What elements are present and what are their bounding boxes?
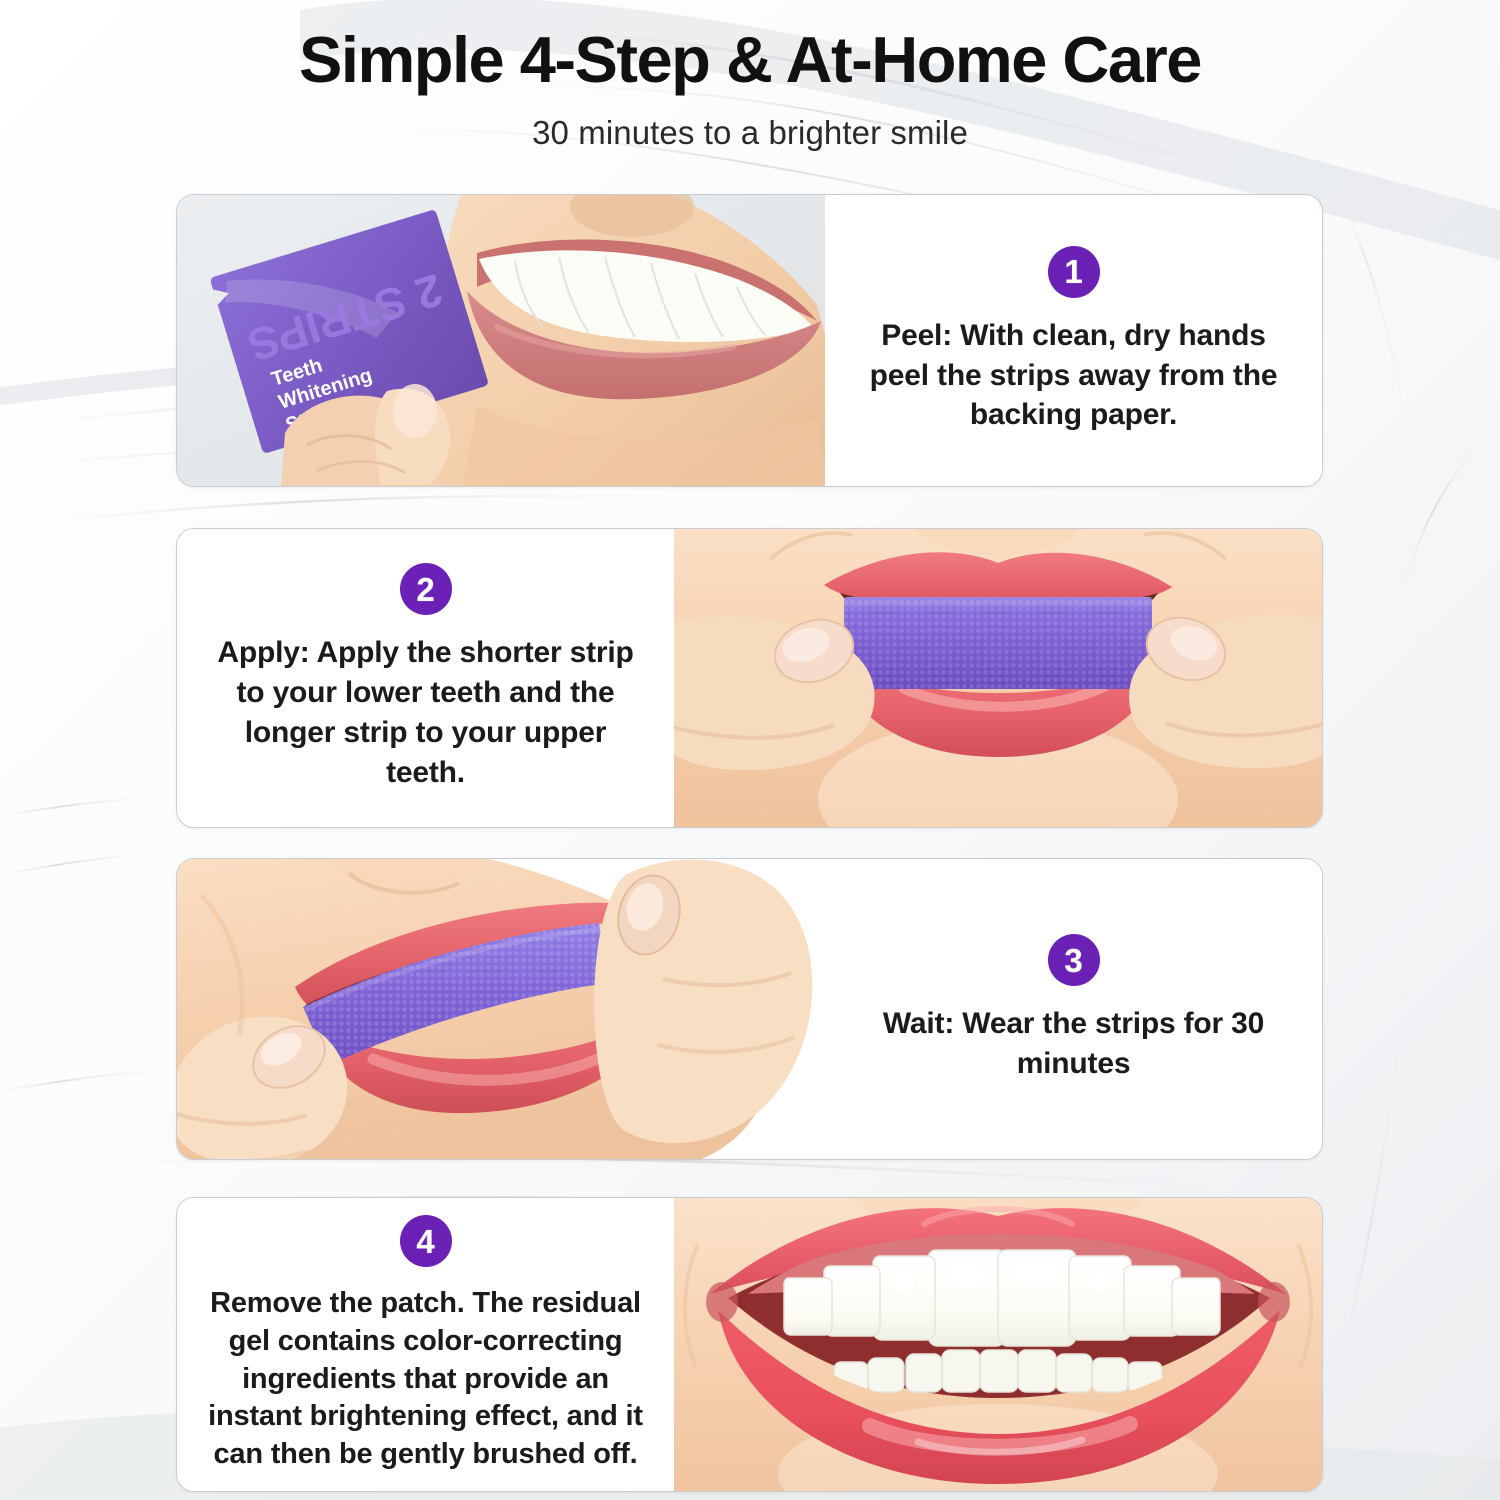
step-card-4: 4 Remove the patch. The residual gel con… (176, 1197, 1323, 1492)
step-4-number-badge: 4 (400, 1215, 452, 1267)
step-1-photo: 2 STRIPS Teeth Whitening Strips (177, 195, 825, 486)
page-title: Simple 4-Step & At-Home Care (0, 26, 1500, 94)
step-2-photo (674, 529, 1322, 827)
page-header: Simple 4-Step & At-Home Care 30 minutes … (0, 0, 1500, 152)
step-card-2: 2 Apply: Apply the shorter strip to your… (176, 528, 1323, 828)
step-3-textpane: 3 Wait: Wear the strips for 30 minutes (825, 859, 1322, 1159)
step-1-text: Peel: With clean, dry hands peel the str… (851, 316, 1296, 436)
step-2-textpane: 2 Apply: Apply the shorter strip to your… (177, 529, 674, 827)
step-4-photo (674, 1198, 1322, 1491)
step-4-textpane: 4 Remove the patch. The residual gel con… (177, 1198, 674, 1491)
step-1-textpane: 1 Peel: With clean, dry hands peel the s… (825, 195, 1322, 486)
page-subtitle: 30 minutes to a brighter smile (0, 114, 1500, 152)
step-card-3: 3 Wait: Wear the strips for 30 minutes (176, 858, 1323, 1160)
step-2-text: Apply: Apply the shorter strip to your l… (203, 633, 648, 793)
step-3-photo (177, 859, 825, 1159)
step-2-number-badge: 2 (400, 563, 452, 615)
step-1-number-badge: 1 (1048, 246, 1100, 298)
step-4-text: Remove the patch. The residual gel conta… (203, 1285, 648, 1473)
step-3-text: Wait: Wear the strips for 30 minutes (851, 1004, 1296, 1084)
step-3-number-badge: 3 (1048, 934, 1100, 986)
step-card-1: 2 STRIPS Teeth Whitening Strips 1 P (176, 194, 1323, 487)
